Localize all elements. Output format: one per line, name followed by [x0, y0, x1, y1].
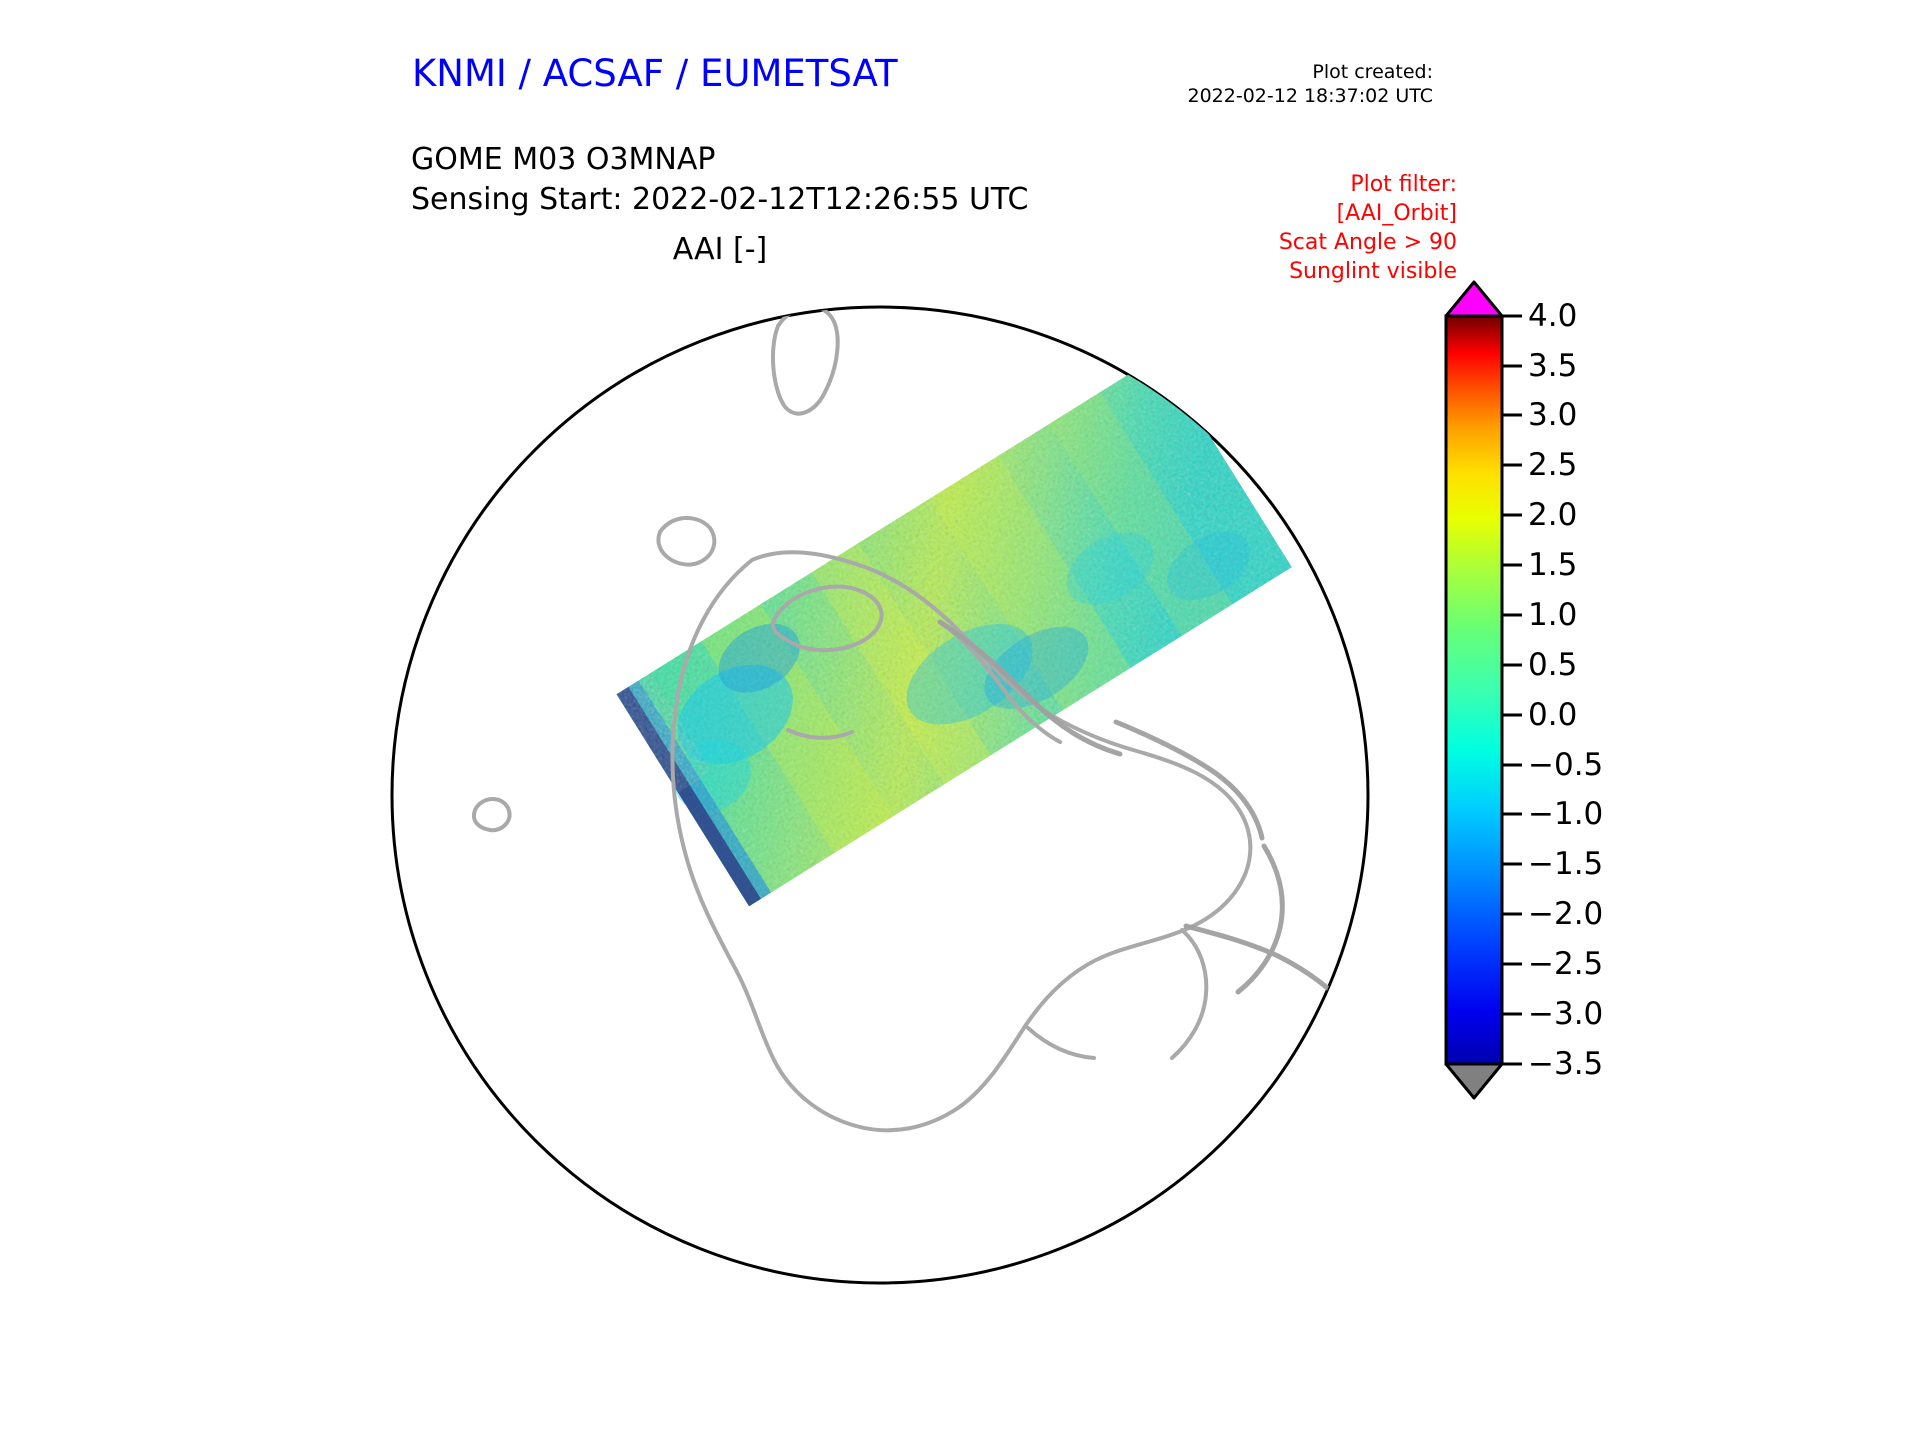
plot-filter-line-0: Plot filter: [1279, 170, 1457, 199]
instrument-product-line: GOME M03 O3MNAP [411, 140, 1028, 180]
plot-filter-line-2: Scat Angle > 90 [1279, 228, 1457, 257]
colorbar-tick-label-10: −1.0 [1528, 796, 1603, 832]
plot-page: KNMI / ACSAF / EUMETSAT Plot created: 20… [0, 0, 1920, 1440]
colorbar-tick-label-8: 0.0 [1528, 697, 1577, 733]
colorbar-tick-label-7: 0.5 [1528, 647, 1577, 683]
colorbar-under-arrow [1446, 1064, 1502, 1098]
polar-map [380, 270, 1400, 1330]
plot-created-time: 2022-02-12 18:37:02 UTC [1188, 84, 1434, 108]
sensing-start-line: Sensing Start: 2022-02-12T12:26:55 UTC [411, 180, 1028, 220]
colorbar: 4.0 3.5 3.0 2.5 2.0 1.5 1.0 0.5 0.0 −0.5… [1430, 280, 1760, 1100]
colorbar-over-arrow [1446, 282, 1502, 316]
colorbar-tick-label-4: 2.0 [1528, 497, 1577, 533]
colorbar-tick-label-0: 4.0 [1528, 298, 1577, 334]
colorbar-tick-label-3: 2.5 [1528, 447, 1577, 483]
colorbar-tick-label-14: −3.0 [1528, 996, 1603, 1032]
map-canvas [380, 270, 1400, 1330]
colorbar-gradient [1446, 316, 1502, 1064]
colorbar-tick-label-9: −0.5 [1528, 747, 1603, 783]
plot-filter-block: Plot filter: [AAI_Orbit] Scat Angle > 90… [1279, 170, 1457, 286]
colorbar-tick-label-1: 3.5 [1528, 348, 1577, 384]
colorbar-tick-label-5: 1.5 [1528, 547, 1577, 583]
colorbar-tick-label-2: 3.0 [1528, 397, 1577, 433]
colorbar-ticks [1502, 316, 1522, 1064]
plot-created-label: Plot created: [1188, 60, 1434, 84]
colorbar-tick-label-11: −1.5 [1528, 846, 1603, 882]
plot-filter-line-1: [AAI_Orbit] [1279, 199, 1457, 228]
colorbar-tick-label-13: −2.5 [1528, 946, 1603, 982]
organisation-title: KNMI / ACSAF / EUMETSAT [412, 52, 898, 95]
colorbar-tick-label-15: −3.5 [1528, 1046, 1603, 1082]
quantity-title: AAI [-] [0, 232, 1440, 267]
colorbar-tick-label-12: −2.0 [1528, 896, 1603, 932]
plot-created-block: Plot created: 2022-02-12 18:37:02 UTC [1188, 60, 1434, 109]
product-info-block: GOME M03 O3MNAP Sensing Start: 2022-02-1… [411, 140, 1028, 220]
colorbar-tick-label-6: 1.0 [1528, 597, 1577, 633]
